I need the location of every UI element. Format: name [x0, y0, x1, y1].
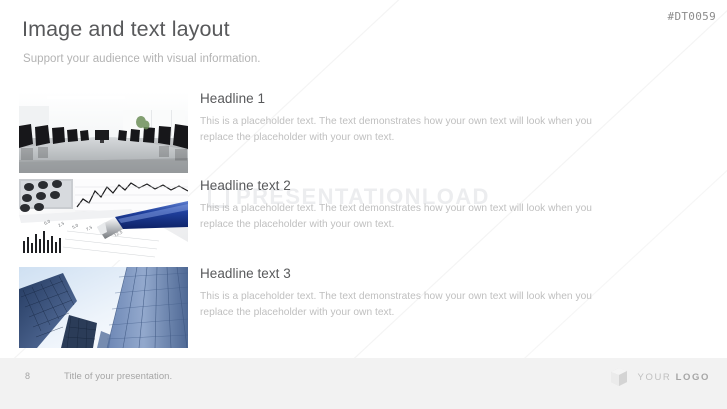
logo-word-your: YOUR: [638, 372, 672, 383]
row-text-block: Headline text 2 This is a placeholder te…: [200, 179, 600, 234]
cube-icon: [608, 366, 630, 388]
slide-canvas: Image and text layout Support your audie…: [0, 0, 727, 409]
row-body-text: This is a placeholder text. The text dem…: [200, 201, 600, 234]
financial-chart-pen-photo[interactable]: 0,0 2,5 5,0 7,5 10,0 12,5: [19, 179, 188, 260]
row-headline: Headline text 3: [200, 267, 600, 282]
footer-logo[interactable]: YOUR LOGO: [608, 366, 710, 388]
footer-presentation-title: Title of your presentation.: [64, 371, 172, 382]
page-subtitle: Support your audience with visual inform…: [23, 53, 261, 65]
row-body-text: This is a placeholder text. The text dem…: [200, 114, 600, 147]
skyscrapers-photo[interactable]: [19, 267, 188, 348]
page-title: Image and text layout: [22, 17, 230, 42]
content-row: Headline text 3 This is a placeholder te…: [19, 267, 709, 349]
content-row: 0,0 2,5 5,0 7,5 10,0 12,5: [19, 179, 709, 261]
conference-room-photo[interactable]: [19, 92, 188, 173]
row-text-block: Headline text 3 This is a placeholder te…: [200, 267, 600, 322]
logo-text: YOUR LOGO: [638, 372, 710, 383]
row-headline: Headline text 2: [200, 179, 600, 194]
document-code: #DT0059: [668, 10, 716, 23]
content-row: Headline 1 This is a placeholder text. T…: [19, 92, 709, 174]
footer-page-number: 8: [25, 371, 30, 381]
row-headline: Headline 1: [200, 92, 600, 107]
logo-word-logo: LOGO: [676, 372, 710, 383]
row-text-block: Headline 1 This is a placeholder text. T…: [200, 92, 600, 147]
row-body-text: This is a placeholder text. The text dem…: [200, 289, 600, 322]
